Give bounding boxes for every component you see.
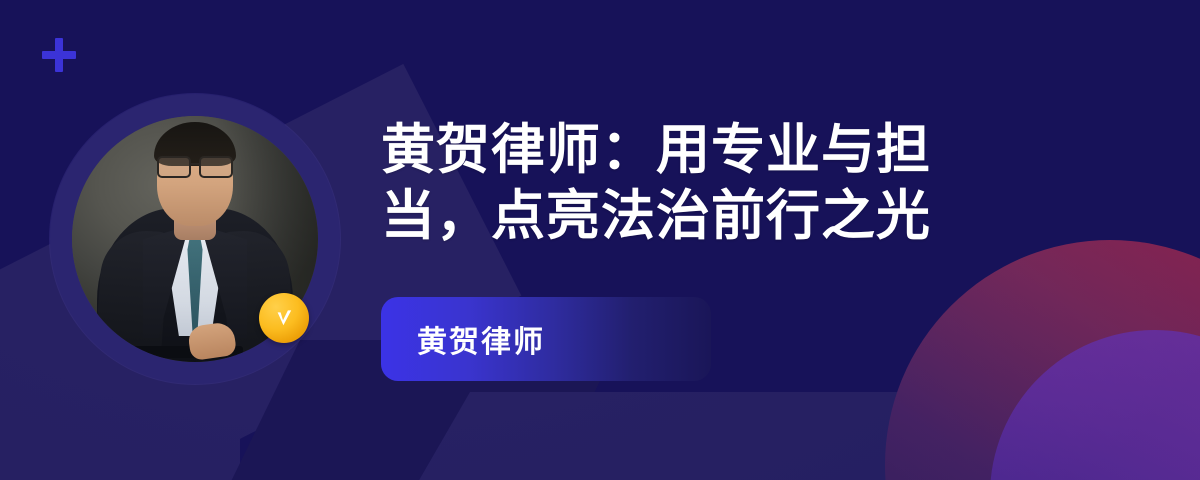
glasses-lens-right [199,156,233,178]
author-name-label: 黄贺律师 [417,317,545,361]
article-hero-banner: 黄贺律师：用专业与担 当，点亮法治前行之光 黄贺律师 [0,0,1200,480]
headline-block: 黄贺律师：用专业与担 当，点亮法治前行之光 [381,118,1041,250]
plus-icon [42,38,76,72]
glasses-lens-left [157,156,191,178]
verified-check-badge-icon [259,293,309,343]
glasses-bridge [189,163,201,165]
avatar[interactable] [50,94,340,384]
page-title: 黄贺律师：用专业与担 当，点亮法治前行之光 [381,118,1041,250]
portrait-glasses-icon [156,156,234,176]
plus-icon-bar-vertical [55,38,63,72]
author-name-pill[interactable]: 黄贺律师 [381,297,711,381]
